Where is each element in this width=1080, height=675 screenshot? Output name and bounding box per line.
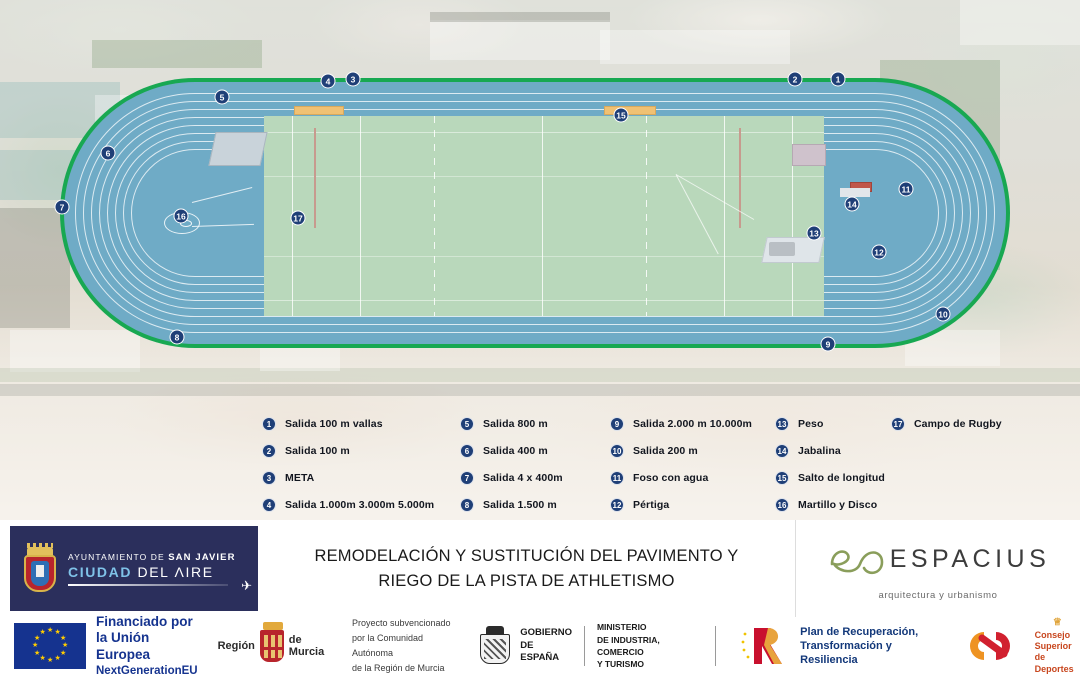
legend-label-9: Salida 2.000 m 10.000m xyxy=(633,418,752,430)
legend-column-5: 17Campo de Rugby xyxy=(891,410,1002,437)
map-marker-9[interactable]: 9 xyxy=(821,337,836,352)
legend-item-3[interactable]: 3META xyxy=(262,464,434,491)
legend-item-10[interactable]: 10Salida 200 m xyxy=(610,437,752,464)
legend-label-13: Peso xyxy=(798,418,824,430)
eu-star-1: ★ xyxy=(47,627,53,634)
csd-text: ♕ Consejo Superior de Deportes xyxy=(1035,617,1080,675)
csd-line-3: de Deportes xyxy=(1035,652,1080,675)
consejo-superior-deportes-logo: ♕ Consejo Superior de Deportes xyxy=(956,617,1080,675)
legend-badge-8: 8 xyxy=(460,498,474,512)
map-marker-2[interactable]: 2 xyxy=(788,72,803,87)
legend-label-1: Salida 100 m vallas xyxy=(285,418,383,430)
gobierno-de-espana-logo: GOBIERNO DE ESPAÑA xyxy=(476,626,572,666)
legend-item-4[interactable]: 4Salida 1.000m 3.000m 5.000m xyxy=(262,491,434,518)
prtr-line-1: Plan de Recuperación, xyxy=(800,625,941,639)
aerial-warehouse xyxy=(430,20,610,60)
project-title: REMODELACIÓN Y SUSTITUCIÓN DEL PAVIMENTO… xyxy=(258,520,795,617)
eu-star-7: ★ xyxy=(47,657,53,664)
subvencion-line-3: de la Región de Murcia xyxy=(352,661,460,675)
map-marker-1[interactable]: 1 xyxy=(831,72,846,87)
city-line-2: CIUDAD DEL ΛIRE xyxy=(68,564,236,580)
csd-mark-icon xyxy=(956,624,1030,668)
aerial-building-3 xyxy=(960,0,1080,45)
espacius-monogram-icon xyxy=(826,536,888,582)
legend-label-3: META xyxy=(285,472,314,484)
field-touch-5m-bottom xyxy=(264,300,824,301)
legend-badge-14: 14 xyxy=(775,444,789,458)
project-title-line-2: RIEGO DE LA PISTA DE ATHLETISMO xyxy=(378,572,674,590)
field-dash-left xyxy=(434,116,435,316)
divider-2 xyxy=(715,626,716,666)
eu-star-8: ★ xyxy=(40,655,46,662)
ministerio-line-2: DE INDUSTRIA, COMERCIO xyxy=(597,634,703,659)
legend-badge-4: 4 xyxy=(262,498,276,512)
legend-badge-6: 6 xyxy=(460,444,474,458)
espacius-tagline: arquitectura y urbanismo xyxy=(879,590,998,601)
murcia-shield-icon xyxy=(260,630,284,662)
espacius-name: ESPACIUS xyxy=(890,545,1051,574)
gobierno-line-2: DE ESPAÑA xyxy=(520,640,572,665)
ministerio-text: MINISTERIO DE INDUSTRIA, COMERCIO Y TURI… xyxy=(597,621,703,670)
legend-item-16[interactable]: 16Martillo y Disco xyxy=(775,491,885,518)
csd-line-2: Superior xyxy=(1035,641,1080,652)
airplane-icon: ✈ xyxy=(241,578,252,594)
legend-badge-16: 16 xyxy=(775,498,789,512)
legend-badge-17: 17 xyxy=(891,417,905,431)
prtr-mark-icon xyxy=(738,624,794,668)
region-de-murcia-logo: Región de Murcia xyxy=(218,630,336,662)
map-marker-11[interactable]: 11 xyxy=(899,182,914,197)
eu-star-6: ★ xyxy=(55,655,61,662)
city-logo-rule: ✈ xyxy=(68,584,228,586)
legend-item-15[interactable]: 15Salto de longitud xyxy=(775,464,885,491)
legend-item-17[interactable]: 17Campo de Rugby xyxy=(891,410,1002,437)
legend-column-2: 5Salida 800 m6Salida 400 m7Salida 4 x 40… xyxy=(460,410,563,518)
legend-column-4: 13Peso14Jabalina15Salto de longitud16Mar… xyxy=(775,410,885,518)
spain-coat-of-arms-icon xyxy=(476,626,514,666)
legend-badge-5: 5 xyxy=(460,417,474,431)
eu-star-9: ★ xyxy=(34,650,40,657)
subvencion-line-1: Proyecto subvencionado xyxy=(352,616,460,631)
prtr-line-2: Transformación y Resiliencia xyxy=(800,639,941,668)
legend: 1Salida 100 m vallas2Salida 100 m3META4S… xyxy=(262,410,1062,518)
legend-item-2[interactable]: 2Salida 100 m xyxy=(262,437,434,464)
legend-badge-9: 9 xyxy=(610,417,624,431)
aerial-hedge xyxy=(0,368,1080,382)
murcia-word-2: de Murcia xyxy=(289,634,336,658)
legend-label-17: Campo de Rugby xyxy=(914,418,1002,430)
eu-star-10: ★ xyxy=(32,642,38,649)
aerial-road-bottom xyxy=(0,384,1080,396)
subvencion-text: Proyecto subvencionado por la Comunidad … xyxy=(352,616,460,675)
eu-line-2: la Unión Europea xyxy=(96,630,198,664)
subvencion-line-2: por la Comunidad Autónoma xyxy=(352,631,460,661)
legend-label-15: Salto de longitud xyxy=(798,472,885,484)
map-marker-15[interactable]: 15 xyxy=(614,108,629,123)
legend-label-4: Salida 1.000m 3.000m 5.000m xyxy=(285,499,434,511)
eu-funding-text: Financiado por la Unión Europea NextGene… xyxy=(96,614,198,675)
aerial-building-2 xyxy=(600,30,790,64)
city-line-1: AYUNTAMIENTO DE SAN JAVIER xyxy=(68,552,236,563)
legend-item-12[interactable]: 12Pértiga xyxy=(610,491,752,518)
field-dash-right xyxy=(646,116,647,316)
legend-badge-12: 12 xyxy=(610,498,624,512)
prtr-logo: Plan de Recuperación, Transformación y R… xyxy=(738,624,941,668)
map-marker-6[interactable]: 6 xyxy=(101,146,116,161)
field-15m-bottom xyxy=(264,256,824,257)
divider-1 xyxy=(584,626,585,666)
legend-label-16: Martillo y Disco xyxy=(798,499,877,511)
gobierno-text: GOBIERNO DE ESPAÑA xyxy=(520,627,572,664)
ministerio-line-3: Y TURISMO xyxy=(597,658,703,670)
legend-label-14: Jabalina xyxy=(798,445,841,457)
water-jump-pool xyxy=(840,188,870,197)
ministerio-line-1: MINISTERIO xyxy=(597,621,703,633)
legend-label-7: Salida 4 x 400m xyxy=(483,472,563,484)
legend-item-8[interactable]: 8Salida 1.500 m xyxy=(460,491,563,518)
legend-badge-1: 1 xyxy=(262,417,276,431)
map-marker-10[interactable]: 10 xyxy=(936,307,951,322)
eu-line-3: NextGenerationEU xyxy=(96,664,198,675)
rugby-field xyxy=(264,116,824,316)
legend-item-1[interactable]: 1Salida 100 m vallas xyxy=(262,410,434,437)
shot-put-circle xyxy=(769,242,795,256)
legend-badge-15: 15 xyxy=(775,471,789,485)
map-marker-8[interactable]: 8 xyxy=(170,330,185,345)
map-marker-12[interactable]: 12 xyxy=(872,245,887,260)
legend-label-12: Pértiga xyxy=(633,499,669,511)
eu-star-12: ★ xyxy=(40,629,46,636)
gobierno-line-1: GOBIERNO xyxy=(520,627,572,639)
legend-item-7[interactable]: 7Salida 4 x 400m xyxy=(460,464,563,491)
legend-item-14[interactable]: 14Jabalina xyxy=(775,437,885,464)
espacius-logo: ESPACIUS arquitectura y urbanismo xyxy=(795,520,1080,617)
legend-item-11[interactable]: 11Foso con agua xyxy=(610,464,752,491)
eu-flag-icon: ★★★★★★★★★★★★ xyxy=(14,623,86,669)
legend-badge-11: 11 xyxy=(610,471,624,485)
title-bar: AYUNTAMIENTO DE SAN JAVIER CIUDAD DEL ΛI… xyxy=(0,520,1080,617)
rugby-post-left xyxy=(314,128,316,228)
legend-item-6[interactable]: 6Salida 400 m xyxy=(460,437,563,464)
csd-line-1: Consejo xyxy=(1035,630,1080,641)
athletics-track xyxy=(60,78,1010,348)
legend-label-2: Salida 100 m xyxy=(285,445,350,457)
legend-badge-7: 7 xyxy=(460,471,474,485)
map-marker-14[interactable]: 14 xyxy=(845,197,860,212)
map-marker-4[interactable]: 4 xyxy=(321,74,336,89)
long-jump-pit-right xyxy=(604,106,656,115)
legend-item-5[interactable]: 5Salida 800 m xyxy=(460,410,563,437)
map-marker-7[interactable]: 7 xyxy=(55,200,70,215)
map-marker-5[interactable]: 5 xyxy=(215,90,230,105)
san-javier-logo: AYUNTAMIENTO DE SAN JAVIER CIUDAD DEL ΛI… xyxy=(10,526,258,611)
eu-funding-logo: ★★★★★★★★★★★★ Financiado por la Unión Eur… xyxy=(0,617,198,675)
legend-badge-2: 2 xyxy=(262,444,276,458)
map-marker-3[interactable]: 3 xyxy=(346,72,361,87)
pole-vault-mat xyxy=(792,144,826,166)
legend-badge-10: 10 xyxy=(610,444,624,458)
eu-star-3: ★ xyxy=(60,635,66,642)
legend-label-10: Salida 200 m xyxy=(633,445,698,457)
project-title-line-1: REMODELACIÓN Y SUSTITUCIÓN DEL PAVIMENTO… xyxy=(314,547,738,565)
field-line-halfway xyxy=(542,116,543,316)
legend-item-9[interactable]: 9Salida 2.000 m 10.000m xyxy=(610,410,752,437)
high-jump-mat xyxy=(208,132,267,166)
field-line-10-right xyxy=(724,116,725,316)
legend-item-13[interactable]: 13Peso xyxy=(775,410,885,437)
track-surface xyxy=(64,82,1006,344)
legend-label-6: Salida 400 m xyxy=(483,445,548,457)
legend-badge-3: 3 xyxy=(262,471,276,485)
sponsor-bar: ★★★★★★★★★★★★ Financiado por la Unión Eur… xyxy=(0,617,1080,675)
san-javier-logo-text: AYUNTAMIENTO DE SAN JAVIER CIUDAD DEL ΛI… xyxy=(68,552,236,586)
legend-label-8: Salida 1.500 m xyxy=(483,499,557,511)
field-line-10-left xyxy=(360,116,361,316)
aerial-warehouse-roof xyxy=(430,12,610,22)
long-jump-pit-left xyxy=(294,106,344,115)
eu-line-1: Financiado por xyxy=(96,614,198,631)
eu-star-4: ★ xyxy=(62,642,68,649)
aerial-treeline-1 xyxy=(92,40,262,68)
map-marker-13[interactable]: 13 xyxy=(807,226,822,241)
murcia-word-1: Región xyxy=(218,640,255,652)
map-marker-16[interactable]: 16 xyxy=(174,209,189,224)
legend-label-5: Salida 800 m xyxy=(483,418,548,430)
legend-column-1: 1Salida 100 m vallas2Salida 100 m3META4S… xyxy=(262,410,434,518)
legend-label-11: Foso con agua xyxy=(633,472,708,484)
prtr-text: Plan de Recuperación, Transformación y R… xyxy=(800,625,941,668)
poster-root: 1234567891011121314151617 1Salida 100 m … xyxy=(0,0,1080,675)
legend-badge-13: 13 xyxy=(775,417,789,431)
san-javier-crest-icon xyxy=(22,545,58,593)
legend-column-3: 9Salida 2.000 m 10.000m10Salida 200 m11F… xyxy=(610,410,752,518)
map-marker-17[interactable]: 17 xyxy=(291,211,306,226)
csd-crown-icon: ♕ xyxy=(1035,617,1080,630)
